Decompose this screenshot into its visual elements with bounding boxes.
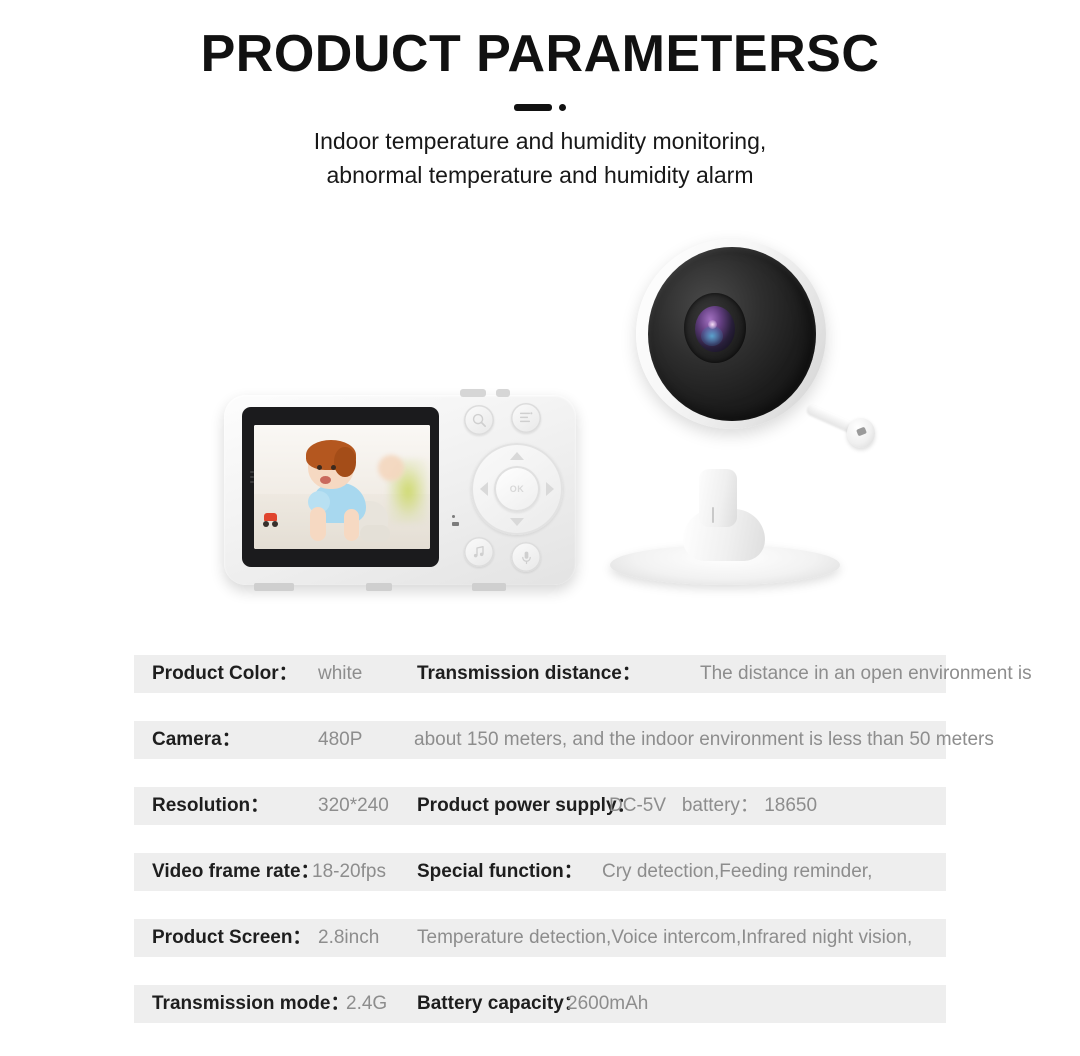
divider-bar (514, 104, 552, 111)
product-photo: OK (0, 225, 1080, 615)
screen-scene (254, 425, 430, 549)
spec-label-resolution: Resolution： (152, 787, 269, 825)
spec-label-camera: Camera： (152, 721, 241, 759)
subtitle-line-2: abnormal temperature and humidity alarm (0, 158, 1080, 192)
baby-eye (317, 465, 322, 470)
title-divider (0, 101, 1080, 113)
monitor-top-nub (460, 389, 486, 397)
monitor-top-nub (496, 389, 510, 397)
monitor-screen (254, 425, 430, 549)
table-row: Camera： 480P about 150 meters, and the i… (134, 721, 946, 759)
directional-pad[interactable]: OK (471, 443, 563, 535)
spec-value-special-function: Cry detection,Feeding reminder, (602, 853, 872, 891)
subtitle-line-1: Indoor temperature and humidity monitori… (0, 124, 1080, 158)
dpad-right-icon[interactable] (546, 482, 554, 496)
toy-car-icon (262, 513, 280, 527)
spec-value-transmission-distance: The distance in an open environment is (700, 655, 1032, 693)
page-subtitle: Indoor temperature and humidity monitori… (0, 124, 1080, 192)
spec-label-power-supply: Product power supply： (417, 787, 636, 825)
table-row: Transmission mode： 2.4G Battery capacity… (134, 985, 946, 1023)
dpad-up-icon[interactable] (510, 452, 524, 460)
dpad-down-icon[interactable] (510, 518, 524, 526)
wifi-camera-unit (600, 225, 900, 585)
baby-figure (298, 443, 390, 549)
music-note-icon (471, 544, 487, 560)
spec-value-product-screen: 2.8inch (318, 919, 379, 957)
camera-lens-housing (684, 293, 746, 363)
specifications-table: Product Color： white Transmission distan… (134, 655, 946, 1023)
spec-value-video-frame-rate: 18-20fps (312, 853, 386, 891)
talk-button[interactable] (511, 542, 541, 572)
baby-mouth (320, 476, 331, 484)
spec-value-transmission-mode: 2.4G (346, 985, 387, 1023)
camera-stem-seam (712, 507, 714, 523)
camera-stem (699, 469, 737, 527)
table-row: Product Screen： 2.8inch Temperature dete… (134, 919, 946, 957)
ok-button[interactable]: OK (494, 466, 540, 512)
divider-dot (559, 104, 566, 111)
camera-face (648, 247, 816, 421)
camera-lens (695, 306, 735, 352)
dpad-left-icon[interactable] (480, 482, 488, 496)
spec-label-special-function: Special function： (417, 853, 583, 891)
baby-monitor-unit: OK (224, 395, 576, 585)
baby-arm (310, 507, 326, 541)
spec-value-transmission-distance-continued: about 150 meters, and the indoor environ… (414, 721, 994, 759)
spec-label-transmission-distance: Transmission distance： (417, 655, 641, 693)
spec-value-resolution: 320*240 (318, 787, 389, 825)
spec-label-video-frame-rate: Video frame rate： (152, 853, 320, 891)
spec-value-camera: 480P (318, 721, 362, 759)
camera-shell (636, 239, 826, 429)
toy-car-wheel (263, 521, 269, 527)
table-row: Video frame rate： 18-20fps Special funct… (134, 853, 946, 891)
spec-label-battery-capacity: Battery capacity： (417, 985, 583, 1023)
camera-antenna-knob (847, 418, 875, 448)
microphone-icon (519, 550, 534, 565)
toy-car-wheel (272, 521, 278, 527)
monitor-foot (472, 583, 506, 591)
magnifier-icon (471, 412, 488, 429)
table-row: Resolution： 320*240 Product power supply… (134, 787, 946, 825)
lens-highlight (708, 320, 717, 329)
lullaby-button[interactable] (464, 537, 494, 567)
baby-hair (334, 447, 356, 477)
spec-value-battery-capacity: 2600mAh (567, 985, 648, 1023)
spec-value-special-function-continued: Temperature detection,Voice intercom,Inf… (417, 919, 912, 957)
spec-label-product-screen: Product Screen： (152, 919, 311, 957)
menu-button[interactable] (511, 403, 541, 433)
spec-value-power-supply: DC-5V battery： 18650 (609, 787, 817, 825)
page-title: PRODUCT PARAMETERSC (0, 26, 1080, 83)
status-led-indicators (452, 515, 458, 530)
table-row: Product Color： white Transmission distan… (134, 655, 946, 693)
monitor-foot (254, 583, 294, 591)
list-icon (518, 410, 534, 426)
baby-eye (331, 465, 336, 470)
spec-value-product-color: white (318, 655, 362, 693)
spec-label-transmission-mode: Transmission mode： (152, 985, 349, 1023)
toy-car-body (264, 513, 277, 521)
monitor-foot (366, 583, 392, 591)
monitor-screen-bezel (242, 407, 439, 567)
spec-label-product-color: Product Color： (152, 655, 298, 693)
lens-cyan-reflection (701, 326, 723, 346)
baby-leg (360, 525, 390, 542)
baby-arm (344, 509, 359, 541)
zoom-button[interactable] (464, 405, 494, 435)
